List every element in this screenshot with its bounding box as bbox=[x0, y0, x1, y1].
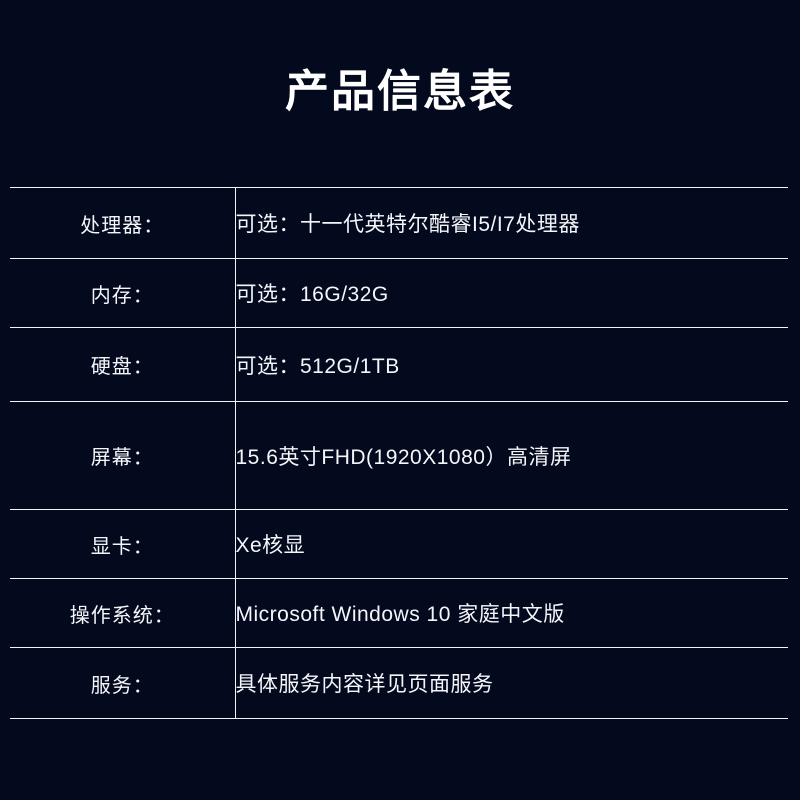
table-row: 显卡： Xe核显 bbox=[10, 510, 788, 579]
spec-label-cell: 屏幕： bbox=[10, 402, 235, 510]
spec-label-cell: 服务： bbox=[10, 648, 235, 719]
table-row: 处理器： 可选：十一代英特尔酷睿I5/I7处理器 bbox=[10, 188, 788, 259]
table-row: 硬盘： 可选：512G/1TB bbox=[10, 328, 788, 402]
product-spec-table: 处理器： 可选：十一代英特尔酷睿I5/I7处理器 内存： 可选：16G/32G … bbox=[10, 187, 788, 719]
spec-value-cell: 15.6英寸FHD(1920X1080）高清屏 bbox=[235, 402, 788, 510]
spec-value-cell: 具体服务内容详见页面服务 bbox=[235, 648, 788, 719]
spec-label-cell: 内存： bbox=[10, 259, 235, 328]
page-title: 产品信息表 bbox=[0, 64, 800, 120]
table-row: 屏幕： 15.6英寸FHD(1920X1080）高清屏 bbox=[10, 402, 788, 510]
spec-label-cell: 处理器： bbox=[10, 188, 235, 259]
product-spec-page: 产品信息表 处理器： 可选：十一代英特尔酷睿I5/I7处理器 内存： 可选：16… bbox=[0, 0, 800, 800]
spec-value-cell: 可选：16G/32G bbox=[235, 259, 788, 328]
spec-value-cell: Xe核显 bbox=[235, 510, 788, 579]
spec-table-body: 处理器： 可选：十一代英特尔酷睿I5/I7处理器 内存： 可选：16G/32G … bbox=[10, 188, 788, 719]
table-row: 内存： 可选：16G/32G bbox=[10, 259, 788, 328]
table-row: 服务： 具体服务内容详见页面服务 bbox=[10, 648, 788, 719]
spec-value-cell: 可选：512G/1TB bbox=[235, 328, 788, 402]
spec-value-cell: Microsoft Windows 10 家庭中文版 bbox=[235, 579, 788, 648]
spec-label-cell: 显卡： bbox=[10, 510, 235, 579]
spec-label-cell: 硬盘： bbox=[10, 328, 235, 402]
table-row: 操作系统： Microsoft Windows 10 家庭中文版 bbox=[10, 579, 788, 648]
spec-value-cell: 可选：十一代英特尔酷睿I5/I7处理器 bbox=[235, 188, 788, 259]
spec-label-cell: 操作系统： bbox=[10, 579, 235, 648]
